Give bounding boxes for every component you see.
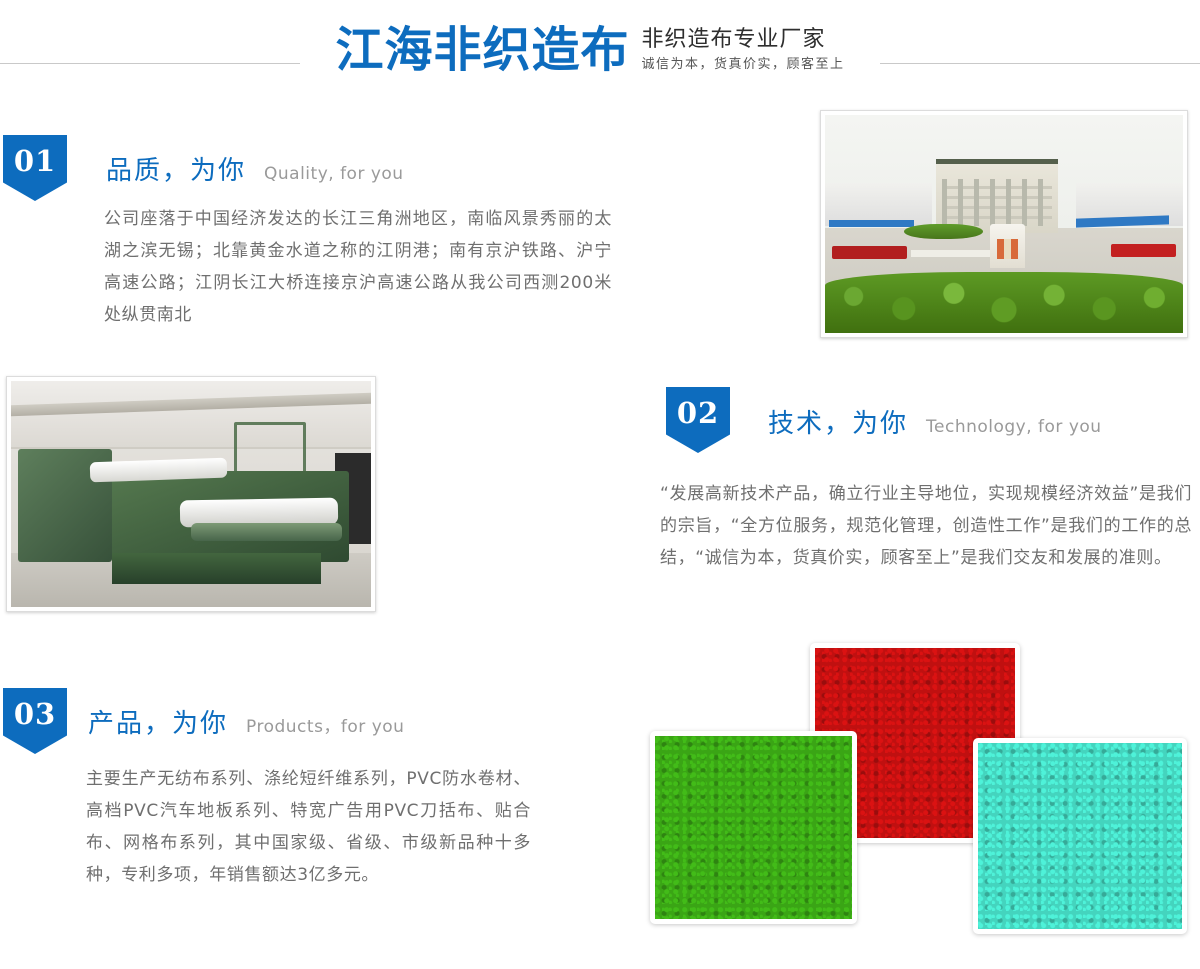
photo-gatehouse: [990, 224, 1026, 268]
section-heading-01: 品质，为你 Quality, for you: [106, 150, 404, 187]
brand-tagline-block: 非织造布专业厂家 诚信为本，货真价实，顾客至上: [642, 26, 845, 75]
section-heading-03: 产品，为你 Products，for you: [88, 703, 404, 740]
section-body-03: 主要生产无纺布系列、涤纶短纤维系列，PVC防水卷材、高档PVC汽车地板系列、特宽…: [86, 763, 531, 891]
factory-building-photo-inner: [825, 115, 1183, 333]
factory-building-photo: [820, 110, 1188, 338]
header-rule-right: [880, 63, 1200, 64]
photo-hedge-row: [825, 272, 1183, 333]
photo-boundary-wall: [911, 250, 990, 257]
teal-leather-swatch: [973, 738, 1187, 934]
section-body-01: 公司座落于中国经济发达的长江三角洲地区，南临风景秀丽的太湖之滨无锡；北靠黄金水道…: [104, 203, 612, 331]
section-badge-03: 03: [3, 688, 67, 754]
section-title-en-03: Products，for you: [246, 712, 404, 737]
photo-ceiling: [11, 381, 371, 449]
photo-green-roller: [191, 523, 342, 541]
section-badge-02: 02: [666, 387, 730, 453]
section-title-cn-02: 技术，为你: [768, 403, 908, 440]
photo-garden-strip: [904, 224, 983, 239]
page-header: 江海非织造布 非织造布专业厂家 诚信为本，货真价实，顾客至上: [0, 0, 1200, 100]
header-rule-left: [0, 63, 300, 64]
section-badge-01: 01: [3, 135, 67, 201]
nonwoven-machine-photo: [6, 376, 376, 612]
photo-right-sign: [1111, 244, 1175, 257]
photo-left-awning: [829, 220, 915, 228]
section-title-en-02: Technology, for you: [926, 417, 1102, 437]
section-title-en-01: Quality, for you: [264, 164, 404, 184]
photo-main-building: [936, 159, 1058, 233]
green-leather-texture: [655, 736, 852, 919]
nonwoven-machine-photo-inner: [11, 381, 371, 607]
section-body-02: “发展高新技术产品，确立行业主导地位，实现规模经济效益”是我们的宗旨，“全方位服…: [660, 478, 1192, 574]
section-heading-02: 技术，为你 Technology, for you: [768, 403, 1102, 440]
brand-tagline-sub: 诚信为本，货真价实，顾客至上: [642, 56, 845, 74]
section-title-cn-01: 品质，为你: [106, 150, 246, 187]
photo-machine-base: [112, 553, 321, 585]
brand-title: 江海非织造布: [335, 26, 629, 74]
photo-left-sign: [832, 246, 907, 259]
brand-tagline-main: 非织造布专业厂家: [642, 26, 845, 54]
teal-leather-texture: [978, 743, 1182, 929]
green-leather-swatch: [650, 731, 857, 924]
section-title-cn-03: 产品，为你: [88, 703, 228, 740]
header-brand-block: 江海非织造布 非织造布专业厂家 诚信为本，货真价实，顾客至上: [300, 0, 880, 100]
